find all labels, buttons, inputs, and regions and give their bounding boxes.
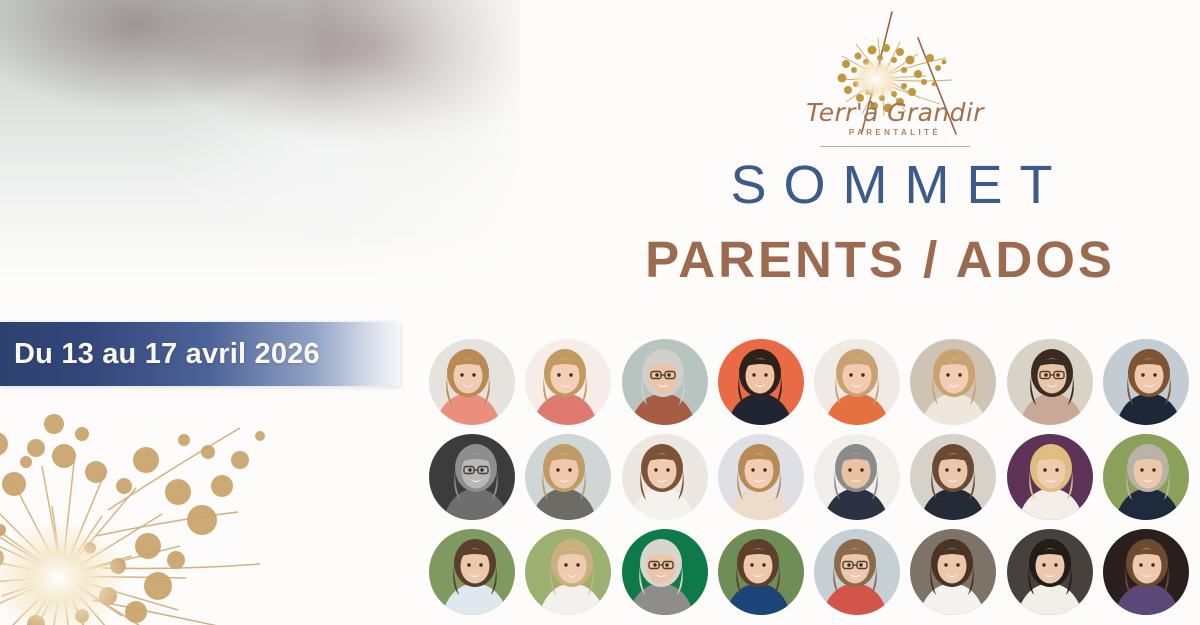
speaker-avatar[interactable]	[718, 529, 804, 615]
speaker-portrait-icon	[525, 529, 611, 615]
hero-photo	[0, 0, 520, 318]
speaker-avatar[interactable]	[622, 529, 708, 615]
speaker-avatar[interactable]	[429, 339, 515, 425]
speaker-avatar[interactable]	[1103, 339, 1189, 425]
speaker-portrait-icon	[525, 339, 611, 425]
speaker-portrait-icon	[910, 529, 996, 615]
date-banner: Du 13 au 17 avril 2026	[0, 322, 400, 386]
speaker-portrait-icon	[1103, 434, 1189, 520]
speaker-avatar[interactable]	[622, 339, 708, 425]
speaker-avatar-grid	[424, 334, 1194, 620]
speaker-portrait-icon	[718, 529, 804, 615]
dandelion-glow	[0, 520, 128, 625]
speaker-avatar[interactable]	[1007, 434, 1093, 520]
speaker-avatar[interactable]	[525, 529, 611, 615]
page-title-parents-ados: PARENTS / ADOS	[580, 234, 1180, 285]
speaker-avatar[interactable]	[429, 434, 515, 520]
logo-wordmark: Terr'à Grandir	[800, 100, 990, 125]
dandelion-decoration	[0, 400, 340, 625]
speaker-portrait-icon	[622, 529, 708, 615]
speaker-avatar[interactable]	[814, 529, 900, 615]
speaker-avatar[interactable]	[429, 529, 515, 615]
speaker-portrait-icon	[718, 339, 804, 425]
speaker-portrait-icon	[622, 434, 708, 520]
speaker-portrait-icon	[1007, 529, 1093, 615]
speaker-portrait-icon	[814, 434, 900, 520]
speaker-avatar[interactable]	[910, 434, 996, 520]
speaker-avatar[interactable]	[814, 434, 900, 520]
speaker-avatar[interactable]	[910, 529, 996, 615]
speaker-portrait-icon	[718, 434, 804, 520]
speaker-avatar[interactable]	[814, 339, 900, 425]
logo-divider	[820, 146, 970, 147]
speaker-avatar[interactable]	[525, 339, 611, 425]
speaker-portrait-icon	[910, 339, 996, 425]
speaker-portrait-icon	[622, 339, 708, 425]
speaker-portrait-icon	[814, 529, 900, 615]
poster-canvas: Du 13 au 17 avril 2026	[0, 0, 1200, 625]
logo-subtitle: PARENTALITÉ	[800, 128, 990, 137]
speaker-portrait-icon	[814, 339, 900, 425]
speaker-avatar[interactable]	[525, 434, 611, 520]
speaker-portrait-icon	[1103, 529, 1189, 615]
speaker-avatar[interactable]	[622, 434, 708, 520]
brand-logo[interactable]: Terr'à Grandir PARENTALITÉ	[800, 4, 990, 154]
speaker-portrait-icon	[429, 529, 515, 615]
speaker-avatar[interactable]	[1007, 339, 1093, 425]
speaker-portrait-icon	[910, 434, 996, 520]
speaker-portrait-icon	[1007, 434, 1093, 520]
speaker-portrait-icon	[429, 434, 515, 520]
page-title-sommet: SOMMET	[640, 158, 1160, 212]
speaker-avatar[interactable]	[1103, 529, 1189, 615]
dandelion-icon	[0, 400, 340, 625]
speaker-portrait-icon	[1007, 339, 1093, 425]
date-banner-text: Du 13 au 17 avril 2026	[0, 338, 320, 371]
speaker-avatar[interactable]	[1007, 529, 1093, 615]
speaker-avatar[interactable]	[910, 339, 996, 425]
speaker-portrait-icon	[429, 339, 515, 425]
speaker-avatar[interactable]	[1103, 434, 1189, 520]
speaker-portrait-icon	[1103, 339, 1189, 425]
speaker-portrait-icon	[525, 434, 611, 520]
speaker-avatar[interactable]	[718, 339, 804, 425]
speaker-avatar[interactable]	[718, 434, 804, 520]
hero-background	[0, 0, 520, 318]
